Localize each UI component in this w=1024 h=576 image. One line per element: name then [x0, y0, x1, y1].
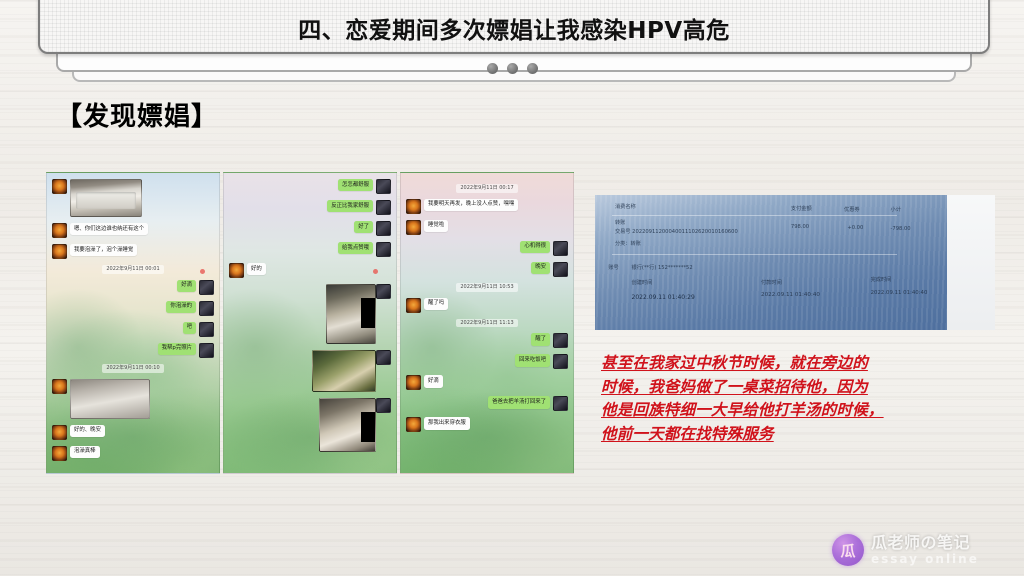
- chat-timestamp-text: 2022年9月11日 00:10: [102, 364, 163, 373]
- message-bubble: 好滴: [177, 280, 196, 292]
- chat-row: 回来吃饭吧: [406, 354, 568, 369]
- avatar: [553, 354, 568, 369]
- receipt-paid-value: 2022.09.11 01:40:40: [761, 291, 820, 299]
- decorative-dots: [0, 60, 1024, 76]
- avatar: [376, 200, 391, 215]
- censor-bar: [361, 412, 376, 442]
- chat-row: [229, 350, 391, 392]
- avatar: [376, 350, 391, 365]
- receipt-col-discount: 优惠券: [844, 207, 860, 215]
- header-frame: 四、恋爱期间多次嫖娼让我感染HPV高危: [38, 0, 990, 54]
- avatar: [199, 301, 214, 316]
- receipt-done-value: 2022.09.11 01:40:40: [871, 289, 928, 297]
- watermark-en: essay online: [871, 553, 979, 565]
- chat-row: 泡澡真棒: [52, 446, 214, 461]
- chat-row: [52, 179, 214, 217]
- message-bubble: 嗯、你们这边谁也纳还有这个: [70, 223, 148, 235]
- message-bubble: 我要泡澡了，泡个澡睡觉: [70, 244, 137, 256]
- section-label: 【发现嫖娼】: [56, 96, 218, 133]
- message-bubble: 我帮p完照片: [158, 343, 196, 355]
- message-bubble: 醒了: [531, 333, 550, 345]
- receipt-discount: +0.00: [847, 225, 863, 233]
- chat-row: 吧: [52, 322, 214, 337]
- photo-message: [319, 398, 376, 452]
- message-bubble: 你泡澡的: [166, 301, 196, 313]
- chat-row: 好的: [229, 263, 391, 278]
- chat-row: 怎怎都舒服: [229, 179, 391, 194]
- chat-row: 我要明天再发，晚上没人点赞，嘿嘿: [406, 199, 568, 214]
- avatar: [52, 425, 67, 440]
- chat-screenshots: 嗯、你们这边谁也纳还有这个 我要泡澡了，泡个澡睡觉 2022年9月11日 00:…: [46, 172, 574, 474]
- page-title: 四、恋爱期间多次嫖娼让我感染HPV高危: [298, 11, 729, 52]
- receipt-divider: [612, 254, 898, 255]
- avatar: [52, 446, 67, 461]
- chat-row: 那我出来穿衣服: [406, 417, 568, 432]
- message-bubble: 反正比我家舒服: [327, 200, 373, 212]
- chat-row: 晚安: [406, 262, 568, 277]
- unread-dot-icon: [200, 269, 205, 274]
- red-annotation-line: 他是回族特细一大早给他打羊汤的时候，: [601, 399, 991, 423]
- chat-row: 给我点赞哦: [229, 242, 391, 257]
- photo-message: [70, 179, 142, 217]
- receipt-item-sub: 交易号 20220911200040011102620010160600: [615, 229, 738, 237]
- chat-row: 好滴: [406, 375, 568, 390]
- chat-timestamp-text: 2022年9月11日 10:53: [456, 283, 517, 292]
- dot-icon: [487, 63, 498, 74]
- avatar: [376, 179, 391, 194]
- avatar: [199, 280, 214, 295]
- avatar: [406, 375, 421, 390]
- chat-panel-2: 怎怎都舒服 反正比我家舒服 好了 给我点赞哦 好的: [223, 172, 397, 474]
- chat-row: 好了: [229, 221, 391, 236]
- chat-timestamp-text: 2022年9月11日 11:13: [456, 319, 517, 328]
- red-annotation-line: 甚至在我家过中秋节时候，就在旁边的: [601, 352, 991, 376]
- chat-panel-3: 2022年9月11日 00:17 我要明天再发，晚上没人点赞，嘿嘿 睡觉啦 心机…: [400, 172, 574, 474]
- receipt-col-name: 消费名称: [615, 204, 636, 212]
- censor-bar: [361, 298, 376, 328]
- avatar: [406, 417, 421, 432]
- chat-panel-1: 嗯、你们这边谁也纳还有这个 我要泡澡了，泡个澡睡觉 2022年9月11日 00:…: [46, 172, 220, 474]
- watermark-cn: 瓜老师の笔记: [871, 535, 979, 551]
- watermark-text: 瓜老师の笔记 essay online: [871, 535, 979, 565]
- avatar: [52, 223, 67, 238]
- message-bubble: 好滴: [424, 375, 443, 387]
- watermark: 瓜 瓜老师の笔记 essay online: [832, 534, 979, 566]
- chat-timestamp: 2022年9月11日 11:13: [406, 319, 568, 328]
- message-bubble: 那我出来穿衣服: [424, 417, 470, 429]
- message-bubble: 好了: [354, 221, 373, 233]
- chat-timestamp: 2022年9月11日 00:01: [52, 265, 214, 274]
- receipt-account-value: 银行(**行) 152*******52: [632, 265, 693, 273]
- chat-row: [229, 284, 391, 344]
- chat-panel-1-messages: 嗯、你们这边谁也纳还有这个 我要泡澡了，泡个澡睡觉 2022年9月11日 00:…: [47, 173, 219, 473]
- message-bubble: 我要明天再发，晚上没人点赞，嘿嘿: [424, 199, 518, 211]
- avatar: [52, 179, 67, 194]
- message-bubble: 泡澡真棒: [70, 446, 100, 458]
- chat-row: 醒了: [406, 333, 568, 348]
- chat-row: [229, 398, 391, 452]
- avatar: [199, 343, 214, 358]
- red-annotation: 甚至在我家过中秋节时候，就在旁边的 时候，我爸妈做了一桌菜招待他，因为 他是回族…: [601, 352, 991, 446]
- receipt-item-category: 分类：转账: [615, 241, 641, 249]
- chat-row: 爸爸去把羊汤打回来了: [406, 396, 568, 411]
- chat-timestamp-text: 2022年9月11日 00:01: [102, 265, 163, 274]
- avatar: [376, 284, 391, 299]
- chat-row: 好滴: [52, 280, 214, 295]
- receipt-created-label: 创建时间: [632, 280, 653, 288]
- avatar: [553, 262, 568, 277]
- chat-timestamp-text: 2022年9月11日 00:17: [456, 184, 517, 193]
- avatar: [376, 398, 391, 413]
- photo-message: [326, 284, 376, 344]
- chat-panel-2-messages: 怎怎都舒服 反正比我家舒服 好了 给我点赞哦 好的: [224, 173, 396, 473]
- avatar: [376, 242, 391, 257]
- receipt-edge: [947, 195, 995, 330]
- avatar: [553, 396, 568, 411]
- chat-row: 心机得很: [406, 241, 568, 256]
- chat-row: 睡觉啦: [406, 220, 568, 235]
- receipt-paid-label: 付款时间: [761, 280, 782, 288]
- chat-row: 醒了吗: [406, 298, 568, 313]
- watermark-logo-icon: 瓜: [832, 534, 864, 566]
- red-annotation-line: 他前一天都在找特殊服务: [601, 423, 991, 447]
- chat-row: 好的、晚安: [52, 425, 214, 440]
- slide-canvas: 四、恋爱期间多次嫖娼让我感染HPV高危 【发现嫖娼】 嗯、你们这边谁也纳还有这个: [0, 0, 1024, 576]
- avatar: [406, 199, 421, 214]
- receipt-content: 消费名称 支付金额 优惠券 小计 转账 交易号 2022091120004001…: [605, 200, 937, 313]
- photo-message: [312, 350, 376, 392]
- photo-message: [70, 379, 150, 419]
- receipt-item-title: 转账: [615, 220, 625, 228]
- chat-timestamp: 2022年9月11日 00:17: [406, 184, 568, 193]
- avatar: [52, 379, 67, 394]
- avatar: [553, 333, 568, 348]
- message-bubble: 晚安: [531, 262, 550, 274]
- chat-timestamp: 2022年9月11日 10:53: [406, 283, 568, 292]
- message-bubble: 醒了吗: [424, 298, 448, 310]
- receipt-amount: 798.00: [791, 224, 809, 232]
- chat-row: [52, 379, 214, 419]
- message-bubble: 好的、晚安: [70, 425, 105, 437]
- avatar: [199, 322, 214, 337]
- avatar: [52, 244, 67, 259]
- message-bubble: 给我点赞哦: [338, 242, 373, 254]
- message-bubble: 心机得很: [520, 241, 550, 253]
- chat-panel-3-messages: 2022年9月11日 00:17 我要明天再发，晚上没人点赞，嘿嘿 睡觉啦 心机…: [401, 173, 573, 473]
- message-bubble: 回来吃饭吧: [515, 354, 550, 366]
- dot-icon: [527, 63, 538, 74]
- message-bubble: 爸爸去把羊汤打回来了: [488, 396, 550, 408]
- receipt-total: -798.00: [891, 226, 911, 234]
- chat-timestamp: 2022年9月11日 00:10: [52, 364, 214, 373]
- avatar: [229, 263, 244, 278]
- receipt-divider: [612, 215, 898, 216]
- receipt-created-value: 2022.09.11 01:40:29: [632, 293, 695, 302]
- message-bubble: 怎怎都舒服: [338, 179, 373, 191]
- payment-record-photo: 消费名称 支付金额 优惠券 小计 转账 交易号 2022091120004001…: [595, 195, 995, 330]
- message-bubble: 好的: [247, 263, 266, 275]
- avatar: [406, 220, 421, 235]
- unread-dot-icon: [373, 269, 378, 274]
- chat-row: 我帮p完照片: [52, 343, 214, 358]
- chat-row: 你泡澡的: [52, 301, 214, 316]
- chat-row: 反正比我家舒服: [229, 200, 391, 215]
- receipt-done-label: 完成时间: [871, 277, 892, 285]
- avatar: [376, 221, 391, 236]
- receipt-col-amount: 支付金额: [791, 206, 812, 214]
- receipt-col-total: 小计: [891, 207, 901, 215]
- avatar: [553, 241, 568, 256]
- receipt-account-label: 账号: [608, 265, 618, 273]
- chat-row: 嗯、你们这边谁也纳还有这个: [52, 223, 214, 238]
- avatar: [406, 298, 421, 313]
- chat-row: 我要泡澡了，泡个澡睡觉: [52, 244, 214, 259]
- message-bubble: 吧: [183, 322, 196, 334]
- message-bubble: 睡觉啦: [424, 220, 448, 232]
- red-annotation-line: 时候，我爸妈做了一桌菜招待他，因为: [601, 376, 991, 400]
- dot-icon: [507, 63, 518, 74]
